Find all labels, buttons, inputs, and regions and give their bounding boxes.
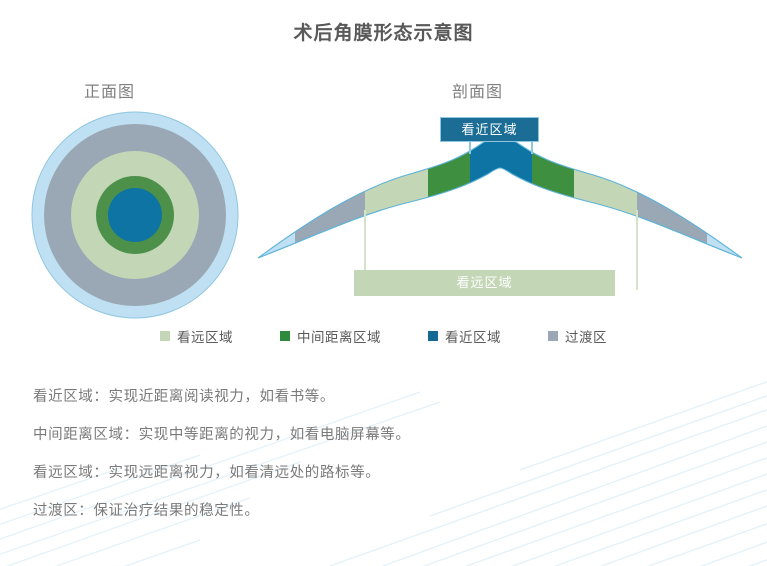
description-line-transition: 过渡区：保证治疗结果的稳定性。 (33, 499, 633, 520)
legend-swatch-intermediate-icon (280, 331, 290, 341)
legend-swatch-near-icon (428, 331, 438, 341)
legend-item-near: 看近区域 (428, 326, 501, 346)
slide-canvas: 术后角膜形态示意图 正面图 剖面图 (0, 0, 767, 566)
front-view-caption: 正面图 (84, 78, 135, 102)
description-line-near: 看近区域：实现近距离阅读视力，如看书等。 (33, 385, 633, 406)
callout-far-zone: 看远区域 (354, 270, 615, 296)
description-list: 看近区域：实现近距离阅读视力，如看书等。 中间距离区域：实现中等距离的视力，如看… (33, 385, 633, 537)
description-line-far: 看远区域：实现远距离视力，如看清远处的路标等。 (33, 461, 633, 482)
band-outer-left (250, 110, 295, 310)
page-title: 术后角膜形态示意图 (0, 18, 767, 45)
ring-near-zone (108, 188, 162, 242)
legend-label-transition: 过渡区 (565, 326, 607, 346)
legend-item-transition: 过渡区 (548, 326, 607, 346)
callout-near-zone: 看近区域 (440, 117, 539, 142)
legend-label-far: 看远区域 (177, 326, 233, 346)
legend-label-near: 看近区域 (445, 326, 501, 346)
band-transition-right (637, 110, 707, 310)
front-view-diagram (31, 111, 239, 319)
legend-label-intermediate: 中间距离区域 (297, 326, 381, 346)
legend: 看远区域 中间距离区域 看近区域 过渡区 (160, 326, 607, 346)
description-line-intermediate: 中间距离区域：实现中等距离的视力，如看电脑屏幕等。 (33, 423, 633, 444)
legend-item-intermediate: 中间距离区域 (280, 326, 381, 346)
cross-section-caption: 剖面图 (452, 78, 503, 102)
legend-swatch-transition-icon (548, 331, 558, 341)
legend-item-far: 看远区域 (160, 326, 233, 346)
band-outer-right (707, 110, 750, 310)
legend-swatch-far-icon (160, 331, 170, 341)
